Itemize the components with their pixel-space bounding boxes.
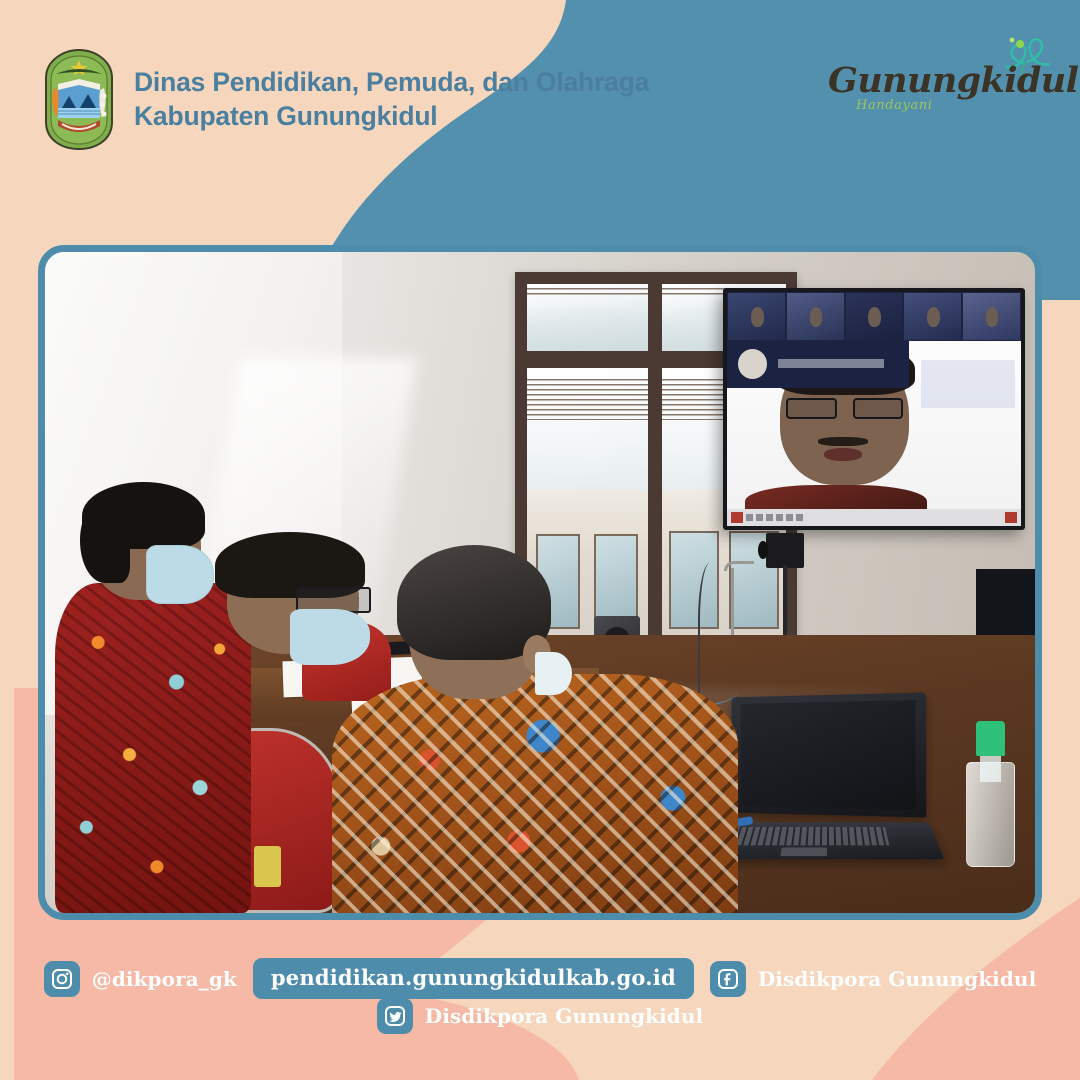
monitor-screen bbox=[727, 292, 1021, 526]
photo-frame bbox=[38, 245, 1042, 920]
wall-monitor bbox=[723, 288, 1025, 529]
camera-icon bbox=[766, 533, 804, 568]
gunungkidul-regency-crest-icon bbox=[42, 48, 116, 152]
gunungkidul-brand-logo: Gunungkidul Handayani bbox=[822, 34, 1052, 126]
twitter-handle[interactable]: Disdikpora Gunungkidul bbox=[377, 998, 703, 1034]
instagram-label: @dikpora_gk bbox=[92, 967, 237, 991]
laptop-keyboard bbox=[710, 822, 944, 859]
laptop-screen bbox=[731, 692, 926, 817]
brand-wordmark: Gunungkidul bbox=[828, 60, 1078, 101]
meeting-attendee-foreground bbox=[332, 556, 738, 913]
brand-tagline: Handayani bbox=[856, 98, 933, 113]
header-title-line-2: Kabupaten Gunungkidul bbox=[134, 100, 649, 134]
zoom-presentation-banner bbox=[727, 341, 909, 388]
footer-social-bar: @dikpora_gk pendidikan.gunungkidulkab.go… bbox=[0, 940, 1080, 1080]
twitter-icon[interactable] bbox=[377, 998, 413, 1034]
facebook-icon[interactable] bbox=[710, 961, 746, 997]
poster-canvas: Dinas Pendidikan, Pemuda, dan Olahraga K… bbox=[0, 0, 1080, 1080]
website-url-pill[interactable]: pendidikan.gunungkidulkab.go.id bbox=[253, 958, 694, 999]
left-peach-strip bbox=[0, 0, 14, 1080]
zoom-participant-strip bbox=[727, 292, 1021, 341]
monitor-taskbar bbox=[727, 509, 1021, 525]
facebook-handle[interactable]: Disdikpora Gunungkidul bbox=[710, 961, 1036, 997]
laptop bbox=[718, 695, 936, 867]
hand-sanitizer-bottle bbox=[966, 721, 1016, 866]
face-mask bbox=[535, 652, 572, 695]
window-pane bbox=[527, 284, 648, 351]
page-title: Dinas Pendidikan, Pemuda, dan Olahraga K… bbox=[134, 66, 649, 134]
video-conference-meeting-photo bbox=[45, 252, 1035, 913]
header: Dinas Pendidikan, Pemuda, dan Olahraga K… bbox=[42, 48, 649, 152]
instagram-handle[interactable]: @dikpora_gk bbox=[44, 961, 237, 997]
facebook-label: Disdikpora Gunungkidul bbox=[758, 967, 1036, 991]
header-title-line-1: Dinas Pendidikan, Pemuda, dan Olahraga bbox=[134, 66, 649, 100]
twitter-label: Disdikpora Gunungkidul bbox=[425, 1004, 703, 1028]
instagram-icon[interactable] bbox=[44, 961, 80, 997]
